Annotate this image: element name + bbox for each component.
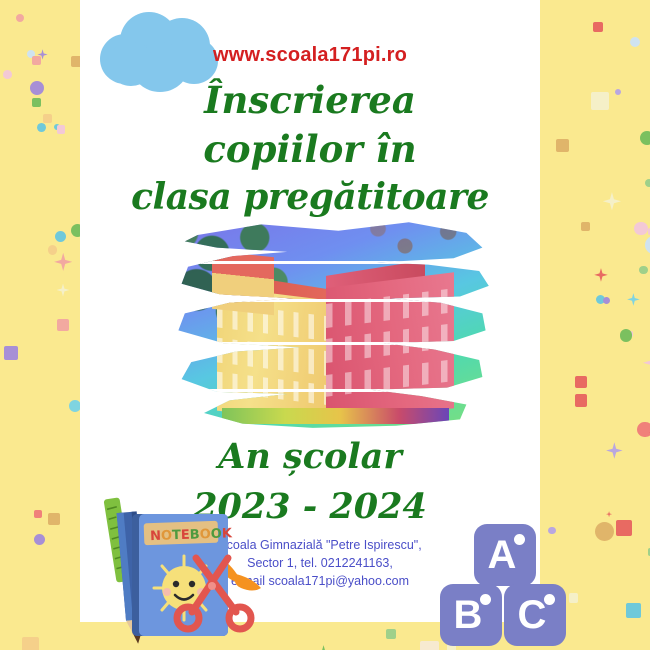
confetti-square <box>48 513 59 524</box>
annex-left <box>212 251 274 315</box>
confetti-square <box>57 319 69 331</box>
ground-strip <box>222 408 449 423</box>
supplies-svg: NOTEBOOK <box>96 496 266 650</box>
school-year-label: An școlar <box>80 432 540 482</box>
confetti-circle <box>640 131 650 145</box>
confetti-circle <box>603 297 610 304</box>
confetti-square <box>616 520 631 535</box>
confetti-square <box>593 22 603 32</box>
brush-separator <box>172 261 492 264</box>
confetti-star <box>606 442 623 459</box>
confetti-circle <box>16 14 24 22</box>
brush-separator <box>172 342 492 345</box>
title-line-3: clasa pregătitoare <box>80 174 540 222</box>
confetti-square <box>575 394 587 406</box>
confetti-star <box>317 645 329 650</box>
confetti-star <box>603 192 621 210</box>
confetti-circle <box>615 89 621 95</box>
confetti-circle <box>634 222 648 236</box>
confetti-circle <box>630 37 640 47</box>
confetti-circle <box>639 266 647 274</box>
confetti-circle <box>34 534 45 545</box>
confetti-circle <box>37 123 46 132</box>
confetti-square <box>57 125 66 134</box>
confetti-circle <box>645 179 650 187</box>
confetti-star <box>594 268 608 282</box>
block-a-letter: A <box>474 524 536 586</box>
block-dot-icon <box>544 594 555 605</box>
confetti-star <box>606 511 612 517</box>
block-dot-icon <box>514 534 525 545</box>
brush-separator <box>172 299 492 302</box>
block-c-letter: C <box>504 584 566 646</box>
confetti-circle <box>3 70 12 79</box>
confetti-square <box>22 637 39 650</box>
block-dot-icon <box>480 594 491 605</box>
confetti-circle <box>595 522 614 541</box>
confetti-square <box>386 629 396 639</box>
school-supplies-illustration: NOTEBOOK <box>96 496 266 650</box>
confetti-square <box>556 139 569 152</box>
confetti-square <box>32 98 41 107</box>
block-b: B <box>440 584 502 646</box>
confetti-star <box>643 353 650 372</box>
title-line-2: copiilor în <box>80 125 540 174</box>
confetti-square <box>581 222 590 231</box>
confetti-circle <box>30 81 45 96</box>
block-b-letter: B <box>440 584 502 646</box>
confetti-star <box>57 284 70 297</box>
brush-separator <box>172 389 492 392</box>
confetti-square <box>420 641 439 650</box>
confetti-circle <box>637 422 650 437</box>
confetti-square <box>32 56 41 65</box>
website-url[interactable]: www.scoala171pi.ro <box>80 44 540 67</box>
abc-blocks: A B C <box>452 524 580 646</box>
confetti-square <box>591 92 609 110</box>
confetti-circle <box>645 236 650 255</box>
confetti-circle <box>55 231 67 243</box>
windows-right <box>326 272 454 423</box>
page-title: Înscrierea copiilor în clasa pregătitoar… <box>80 76 540 222</box>
title-line-1: Înscrierea <box>80 76 540 125</box>
confetti-circle <box>48 245 57 254</box>
building <box>217 254 454 424</box>
confetti-circle <box>620 329 633 342</box>
confetti-square <box>626 603 641 618</box>
brush-stroke-mask <box>172 218 492 430</box>
confetti-square <box>43 114 52 123</box>
school-building-image <box>172 218 492 430</box>
svg-text:NOTEBOOK: NOTEBOOK <box>150 526 233 544</box>
confetti-star <box>627 293 640 306</box>
block-c: C <box>504 584 566 646</box>
confetti-star <box>54 253 72 271</box>
block-a: A <box>474 524 536 586</box>
poster-root: www.scoala171pi.ro Înscrierea copiilor î… <box>0 0 650 650</box>
confetti-square <box>4 346 17 359</box>
confetti-square <box>575 376 587 388</box>
confetti-square <box>34 510 42 518</box>
